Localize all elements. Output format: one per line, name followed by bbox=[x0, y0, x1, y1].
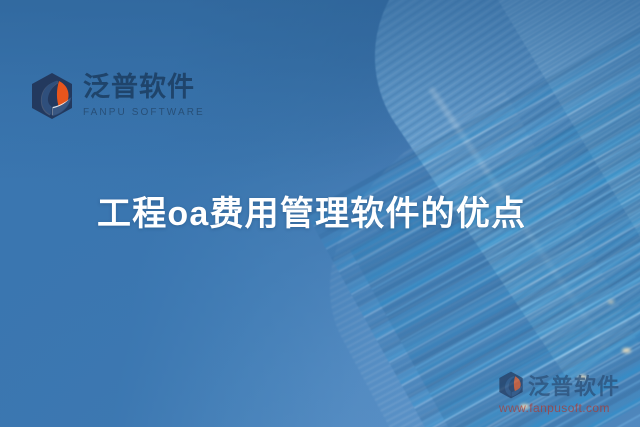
fanpu-watermark-icon bbox=[498, 371, 524, 399]
banner-headline: 工程oa费用管理软件的优点 bbox=[97, 186, 526, 235]
brand-logo: 泛普软件 FANPU SOFTWARE bbox=[30, 72, 205, 120]
brand-name-cn: 泛普软件 bbox=[83, 74, 205, 101]
promo-banner: 泛普软件 FANPU SOFTWARE 工程oa费用管理软件的优点 泛普软件 w… bbox=[0, 0, 640, 427]
brand-logo-text: 泛普软件 FANPU SOFTWARE bbox=[83, 74, 205, 118]
watermark-brand-row: 泛普软件 bbox=[498, 369, 634, 401]
brand-name-en: FANPU SOFTWARE bbox=[83, 108, 205, 118]
fanpu-logo-icon bbox=[30, 72, 74, 120]
site-watermark: 泛普软件 www.fanpusoft.com bbox=[498, 369, 634, 415]
watermark-brand-name: 泛普软件 bbox=[528, 369, 620, 401]
watermark-url: www.fanpusoft.com bbox=[498, 401, 634, 415]
